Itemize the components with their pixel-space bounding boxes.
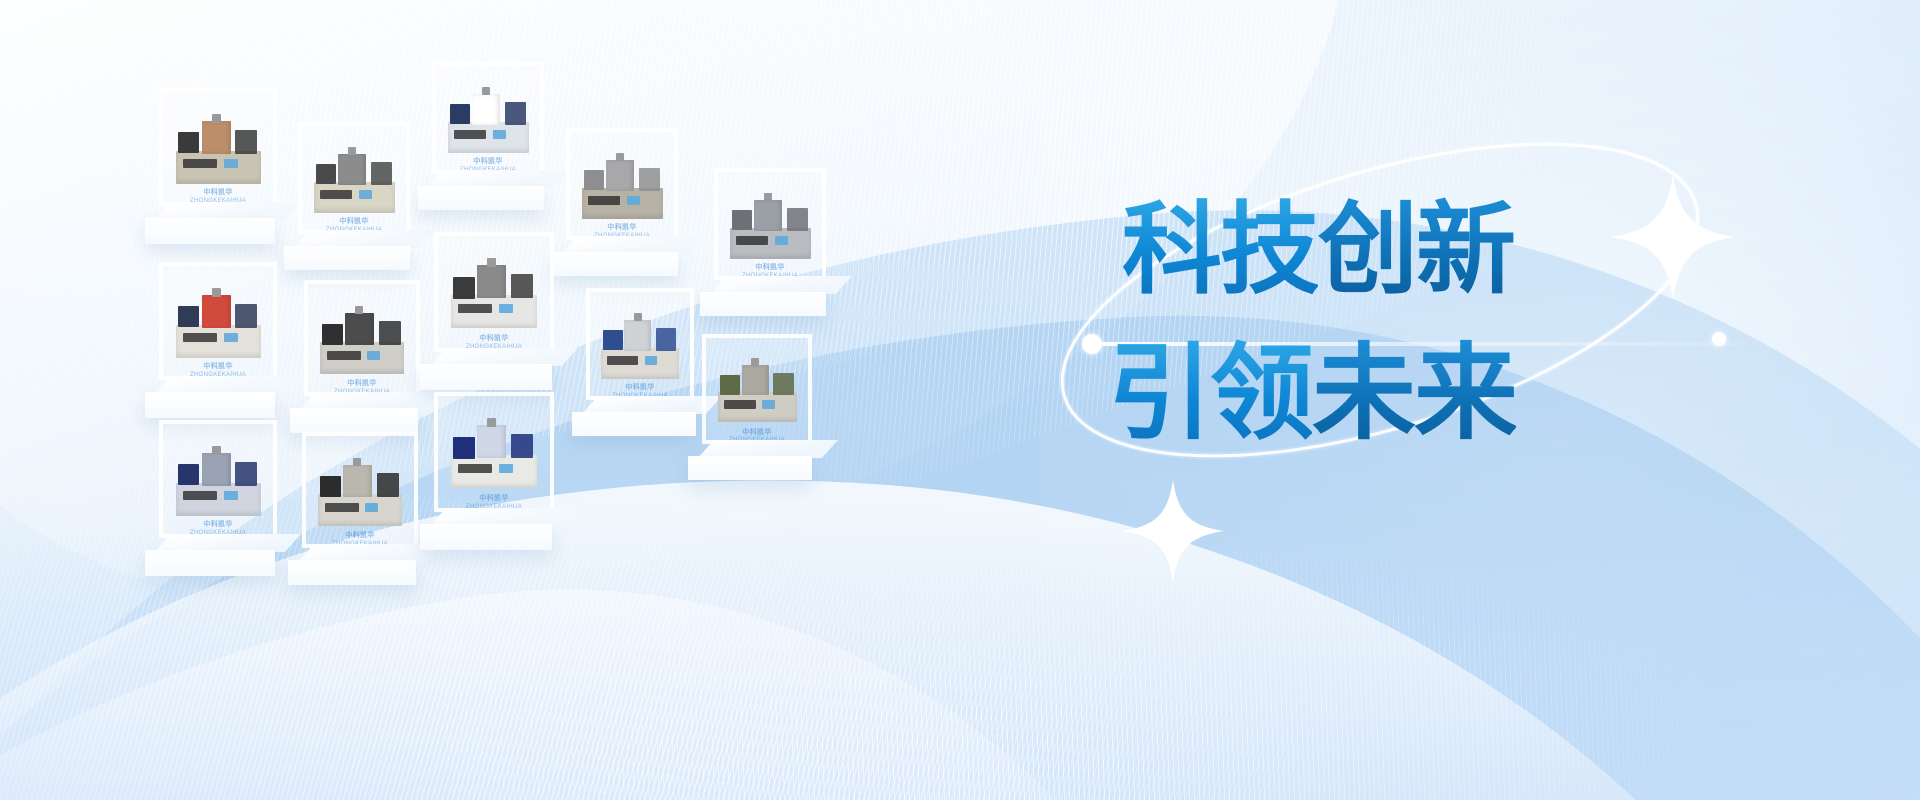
product-showcase-grid: 中科凯华ZHONGKEKAIHUA中科凯华ZHONGKEKAIHUA中科凯华ZH… <box>0 0 1100 800</box>
device-part <box>732 210 752 230</box>
pedestal-front <box>420 524 552 550</box>
device-part <box>202 453 231 486</box>
device-part <box>487 418 496 427</box>
device-part <box>511 434 533 458</box>
watermark-brand: 中科凯华 <box>332 532 388 541</box>
device-part <box>742 365 769 395</box>
device-part <box>178 306 199 327</box>
pedestal-front <box>420 364 552 390</box>
device-part <box>584 170 604 190</box>
watermark-brand: 中科凯华 <box>190 363 246 372</box>
device-part <box>472 94 500 125</box>
product-device-p12 <box>318 458 402 528</box>
pedestal-front <box>145 392 275 418</box>
device-part <box>212 114 221 123</box>
headline-line-1-secondary: 创新 <box>1318 194 1514 306</box>
device-part <box>202 295 231 328</box>
device-part <box>616 153 624 161</box>
device-part <box>724 400 756 409</box>
device-part <box>450 104 470 124</box>
device-part <box>348 147 356 155</box>
watermark-brand: 中科凯华 <box>466 335 522 344</box>
device-part <box>645 356 657 365</box>
device-part <box>379 321 401 345</box>
device-part <box>493 130 506 139</box>
device-part <box>371 162 392 185</box>
product-device-p1 <box>176 114 261 185</box>
device-part <box>505 102 526 125</box>
headline-line-1-primary: 科技 <box>1122 194 1318 306</box>
product-device-p11 <box>176 446 261 517</box>
watermark-brand: 中科凯华 <box>742 264 798 273</box>
product-device-p5 <box>730 193 811 260</box>
device-part <box>320 476 341 497</box>
device-part <box>178 132 199 153</box>
headline-line-2: 引领未来 <box>1108 342 1828 446</box>
device-part <box>588 196 620 205</box>
device-part <box>751 358 759 366</box>
device-part <box>367 351 380 360</box>
product-device-p9 <box>601 313 679 380</box>
device-part <box>224 159 238 168</box>
device-part <box>212 446 221 455</box>
product-device-p6 <box>176 288 261 359</box>
device-part <box>736 236 768 245</box>
device-part <box>775 236 788 245</box>
device-part <box>458 464 492 473</box>
watermark-brand: 中科凯华 <box>612 384 668 393</box>
device-part <box>762 400 775 409</box>
device-part <box>178 464 199 485</box>
device-part <box>345 313 374 345</box>
pedestal-front <box>688 456 812 480</box>
device-part <box>322 324 343 345</box>
device-part <box>377 473 399 497</box>
device-part <box>639 168 660 191</box>
product-device-p3 <box>448 87 529 154</box>
headline-line-2-primary: 引领 <box>1108 336 1312 452</box>
device-part <box>454 130 486 139</box>
headline-line-1: 科技创新 <box>1122 200 1828 300</box>
headline-block: 科技创新 引领未来 <box>1108 200 1828 446</box>
product-cell[interactable]: 中科凯华ZHONGKEKAIHUA <box>688 334 852 516</box>
device-part <box>224 491 238 500</box>
device-part <box>720 375 740 395</box>
headline-line-2-secondary: 未来 <box>1312 336 1516 452</box>
device-part <box>327 351 361 360</box>
watermark-brand: 中科凯华 <box>326 218 382 227</box>
device-part <box>482 87 490 95</box>
device-part <box>355 306 363 314</box>
device-part <box>235 462 257 486</box>
device-part <box>365 503 378 512</box>
product-device-p2 <box>314 147 395 214</box>
device-part <box>477 265 506 298</box>
device-part <box>224 333 238 342</box>
watermark-brand: 中科凯华 <box>466 495 522 504</box>
watermark-brand: 中科凯华 <box>190 189 246 198</box>
device-part <box>343 465 372 497</box>
pedestal-front <box>418 186 544 210</box>
watermark-brand: 中科凯华 <box>460 158 516 167</box>
device-part <box>499 464 513 473</box>
device-part <box>787 208 808 231</box>
product-device-p10 <box>718 358 797 424</box>
accent-dot <box>1082 334 1102 354</box>
product-device-p13 <box>451 418 537 490</box>
product-pedestal <box>145 534 309 588</box>
device-part <box>603 330 623 350</box>
device-part <box>458 304 492 313</box>
device-part <box>656 328 676 351</box>
sparkle-star-icon <box>1120 478 1226 584</box>
device-part <box>624 320 651 351</box>
device-part <box>353 458 361 466</box>
pedestal-front <box>288 560 416 585</box>
device-part <box>212 288 221 297</box>
device-part <box>338 154 366 185</box>
device-part <box>183 333 217 342</box>
device-part <box>183 159 217 168</box>
hero-banner: 中科凯华ZHONGKEKAIHUA中科凯华ZHONGKEKAIHUA中科凯华ZH… <box>0 0 1920 800</box>
product-cell[interactable]: 中科凯华ZHONGKEKAIHUA <box>420 392 592 586</box>
device-part <box>183 491 217 500</box>
device-part <box>487 258 496 267</box>
product-device-p7 <box>320 306 404 376</box>
device-part <box>499 304 513 313</box>
device-part <box>320 190 352 199</box>
product-pedestal <box>420 508 586 562</box>
device-part <box>634 313 642 321</box>
device-part <box>235 130 257 154</box>
pedestal-front <box>145 550 275 576</box>
product-pedestal <box>688 440 846 492</box>
device-part <box>764 193 772 201</box>
watermark-brand: 中科凯华 <box>190 521 246 530</box>
device-part <box>773 373 794 395</box>
device-part <box>202 121 231 154</box>
pedestal-front <box>145 218 275 244</box>
product-device-p4 <box>582 153 663 220</box>
device-part <box>359 190 372 199</box>
device-part <box>477 425 506 458</box>
device-part <box>606 160 634 191</box>
device-part <box>453 437 475 459</box>
watermark-brand: 中科凯华 <box>334 380 390 389</box>
device-part <box>627 196 640 205</box>
product-device-p8 <box>451 258 537 330</box>
device-part <box>325 503 359 512</box>
watermark-brand: 中科凯华 <box>594 224 650 233</box>
device-part <box>511 274 533 298</box>
device-part <box>316 164 336 184</box>
watermark-brand: 中科凯华 <box>729 429 785 438</box>
device-part <box>235 304 257 328</box>
device-part <box>453 277 475 299</box>
device-part <box>754 200 782 231</box>
device-part <box>607 356 638 365</box>
